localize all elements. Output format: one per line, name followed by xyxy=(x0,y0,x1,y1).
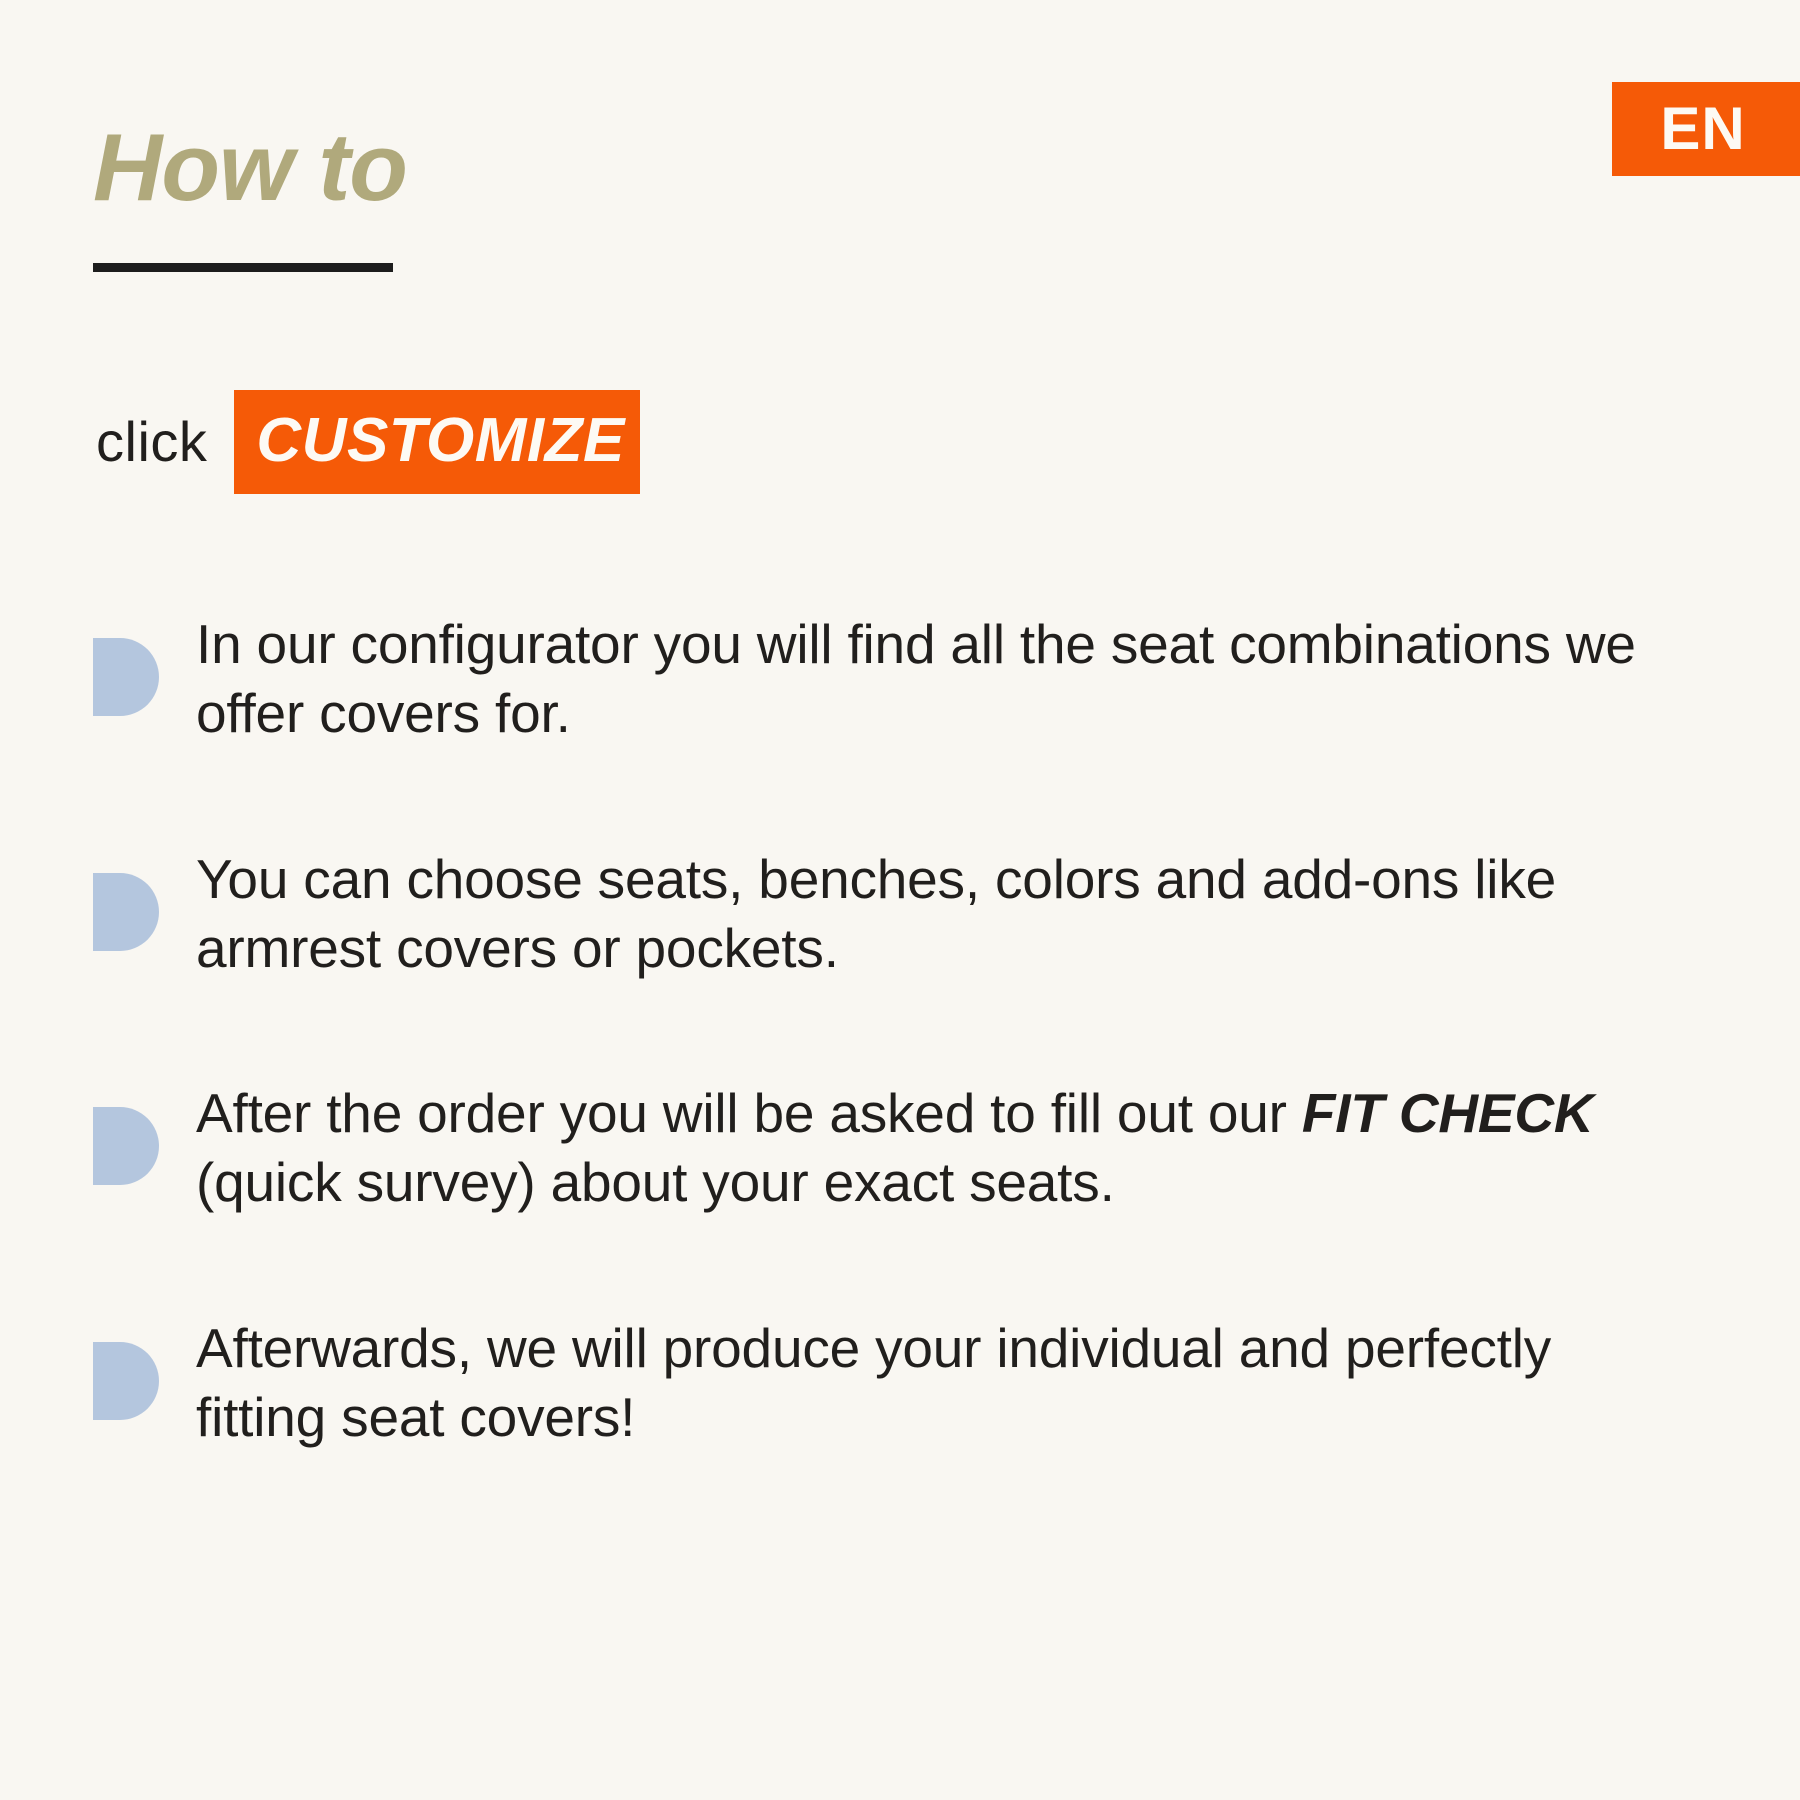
page-title: How to xyxy=(93,118,407,219)
d-shape-bullet-icon xyxy=(93,1107,159,1185)
language-badge[interactable]: EN xyxy=(1612,82,1800,176)
heading-block: How to xyxy=(93,118,407,272)
d-shape-bullet-icon xyxy=(93,873,159,951)
language-badge-label: EN xyxy=(1660,99,1745,159)
d-shape-bullet-icon xyxy=(93,638,159,716)
list-item-text-after: (quick survey) about your exact seats. xyxy=(196,1151,1115,1213)
poster-canvas: EN How to click CUSTOMIZE In our configu… xyxy=(0,0,1800,1800)
steps-list: In our configurator you will find all th… xyxy=(93,610,1653,1452)
list-item-text: In our configurator you will find all th… xyxy=(196,610,1651,749)
list-item-text-before: After the order you will be asked to fil… xyxy=(196,1082,1302,1144)
list-item-text: Afterwards, we will produce your individ… xyxy=(196,1314,1651,1453)
list-item: You can choose seats, benches, colors an… xyxy=(93,845,1653,984)
fit-check-emphasis: FIT CHECK xyxy=(1302,1082,1594,1144)
list-item: After the order you will be asked to fil… xyxy=(93,1079,1653,1218)
d-shape-bullet-icon xyxy=(93,1342,159,1420)
cta-instruction-line: click CUSTOMIZE xyxy=(96,392,640,492)
customize-button-highlight[interactable]: CUSTOMIZE xyxy=(234,390,639,494)
list-item-text: You can choose seats, benches, colors an… xyxy=(196,845,1651,984)
cta-prefix-label: click xyxy=(96,414,207,470)
title-underline-rule xyxy=(93,263,393,272)
list-item-text-before: In our configurator you will find all th… xyxy=(196,613,1636,744)
list-item: In our configurator you will find all th… xyxy=(93,610,1653,749)
list-item: Afterwards, we will produce your individ… xyxy=(93,1314,1653,1453)
list-item-text-before: Afterwards, we will produce your individ… xyxy=(196,1317,1551,1448)
list-item-text: After the order you will be asked to fil… xyxy=(196,1079,1651,1218)
list-item-text-before: You can choose seats, benches, colors an… xyxy=(196,848,1556,979)
